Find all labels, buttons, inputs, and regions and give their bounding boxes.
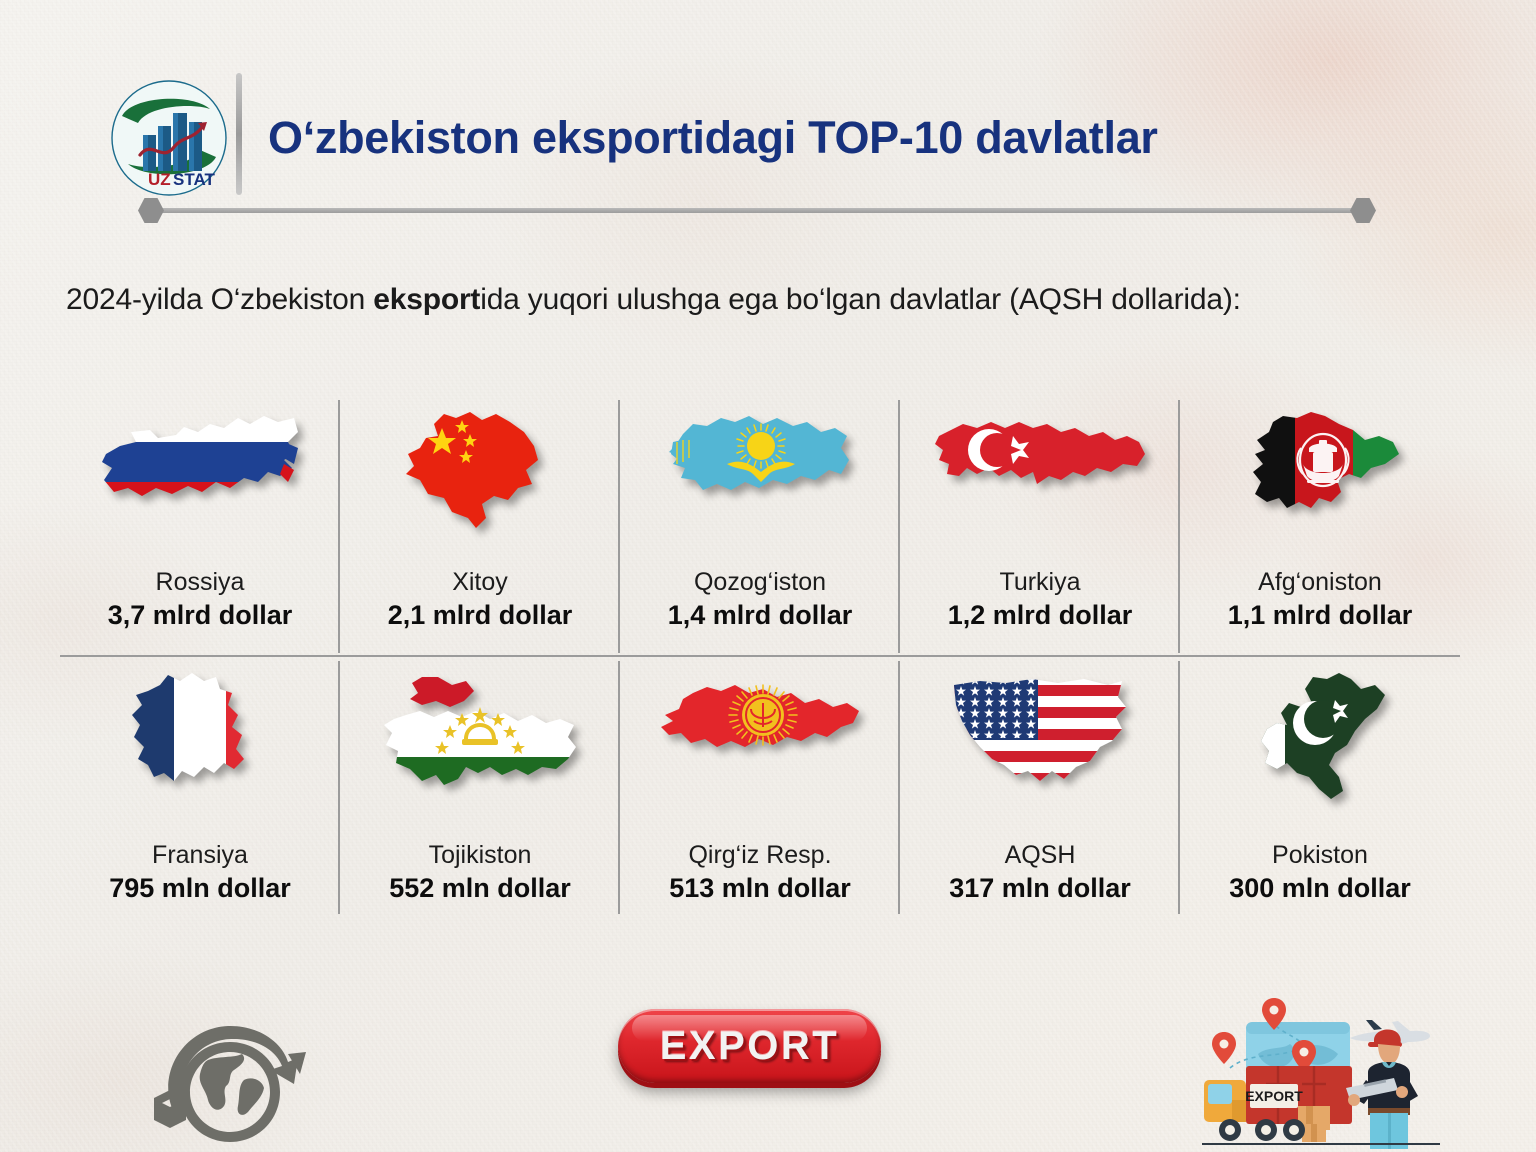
header-divider <box>236 73 242 195</box>
france-flag-map-icon <box>120 663 280 813</box>
country-value: 1,4 mlrd dollar <box>668 600 853 631</box>
country-card-qozogiston[interactable]: Qozog‘iston 1,4 mlrd dollar <box>620 396 900 657</box>
country-name: Fransiya <box>152 842 248 870</box>
page-title: O‘zbekiston eksportidagi TOP-10 davlatla… <box>268 106 1448 176</box>
export-button-label: EXPORT <box>660 1024 839 1069</box>
logo-uz-text: UZ <box>148 170 171 189</box>
country-value: 1,1 mlrd dollar <box>1228 600 1413 631</box>
uzstat-logo-icon: UZ STAT <box>110 79 228 197</box>
country-value: 3,7 mlrd dollar <box>108 600 293 631</box>
country-name: AQSH <box>1005 842 1076 870</box>
kyrgyzstan-flag-map-icon <box>655 663 865 773</box>
country-value: 795 mln dollar <box>109 873 291 904</box>
tajikistan-flag-map-icon <box>378 663 583 803</box>
country-name: Afg‘oniston <box>1258 569 1382 597</box>
country-card-turkiya[interactable]: Turkiya 1,2 mlrd dollar <box>900 396 1180 657</box>
rule-hexagon-right-icon <box>1350 198 1376 223</box>
country-value: 317 mln dollar <box>949 873 1131 904</box>
pakistan-flag-map-icon <box>1243 663 1398 813</box>
country-card-aqsh[interactable]: AQSH 317 mln dollar <box>900 657 1180 918</box>
china-flag-map-icon <box>398 402 563 532</box>
logo-stat-text: STAT <box>173 170 215 189</box>
country-name: Xitoy <box>452 569 508 597</box>
usa-flag-map-icon <box>940 663 1140 803</box>
russia-flag-map-icon <box>98 402 303 522</box>
country-value: 513 mln dollar <box>669 873 851 904</box>
subtitle-part-1: 2024-yilda O‘zbekiston <box>66 283 373 316</box>
country-card-xitoy[interactable]: Xitoy 2,1 mlrd dollar <box>340 396 620 657</box>
subtitle: 2024-yilda O‘zbekiston eksportida yuqori… <box>66 283 1476 317</box>
country-name: Pokiston <box>1272 842 1368 870</box>
rule-hexagon-left-icon <box>138 198 164 223</box>
uzstat-logo: UZ STAT <box>110 79 228 197</box>
country-card-fransiya[interactable]: Fransiya 795 mln dollar <box>60 657 340 918</box>
afghanistan-flag-map-icon <box>1233 402 1408 532</box>
country-grid: Rossiya 3,7 mlrd dollar Xitoy 2,1 mlrd d… <box>60 396 1460 918</box>
export-button[interactable]: EXPORT <box>618 1009 881 1083</box>
header-rule <box>140 208 1375 213</box>
subtitle-part-2: ida yuqori ulushga ega bo‘lgan davlatlar… <box>480 283 1241 316</box>
country-value: 1,2 mlrd dollar <box>948 600 1133 631</box>
country-name: Rossiya <box>156 569 245 597</box>
kazakhstan-flag-map-icon <box>665 402 855 502</box>
country-value: 300 mln dollar <box>1229 873 1411 904</box>
country-name: Qirg‘iz Resp. <box>688 842 831 870</box>
country-name: Qozog‘iston <box>694 569 826 597</box>
turkey-flag-map-icon <box>933 402 1148 492</box>
subtitle-bold-word: eksport <box>373 283 480 316</box>
country-value: 552 mln dollar <box>389 873 571 904</box>
truck-export-label: EXPORT <box>1245 1088 1303 1104</box>
country-value: 2,1 mlrd dollar <box>388 600 573 631</box>
country-card-qirgiz-resp[interactable]: Qirg‘iz Resp. 513 mln dollar <box>620 657 900 918</box>
country-name: Turkiya <box>999 569 1080 597</box>
header: UZ STAT O‘zbekiston eksportidagi TOP-10 … <box>0 0 1536 240</box>
country-card-afgoniston[interactable]: Afg‘oniston 1,1 mlrd dollar <box>1180 396 1460 657</box>
country-card-tojikiston[interactable]: Tojikiston 552 mln dollar <box>340 657 620 918</box>
country-card-pokiston[interactable]: Pokiston 300 mln dollar <box>1180 657 1460 918</box>
country-name: Tojikiston <box>429 842 532 870</box>
export-truck-illustration: EXPORT <box>1178 992 1528 1152</box>
globe-refresh-icon <box>136 1000 324 1148</box>
country-card-rossiya[interactable]: Rossiya 3,7 mlrd dollar <box>60 396 340 657</box>
